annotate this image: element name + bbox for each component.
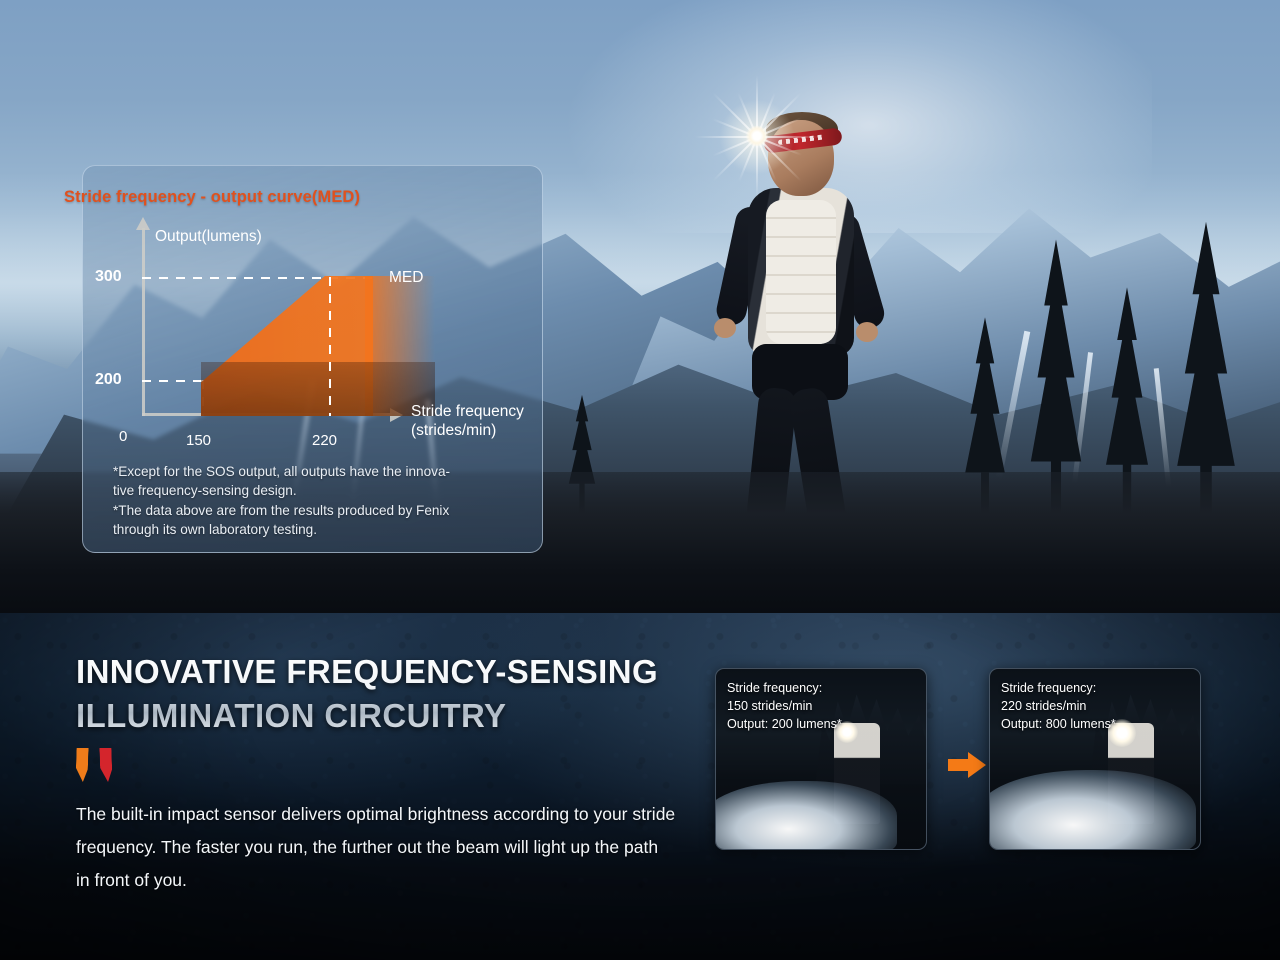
- product-feature-page: Output(lumens) Stride frequency (strides…: [0, 0, 1280, 960]
- card-caption: Stride frequency: 220 strides/min Output…: [1001, 679, 1116, 733]
- card-beam-snow: [989, 770, 1196, 850]
- series-label-med: MED: [389, 269, 423, 287]
- chevron-down-accent-icon: [76, 748, 126, 784]
- x-tick-220: 220: [312, 432, 337, 449]
- x-axis-label: Stride frequency (strides/min): [411, 402, 524, 440]
- gridline-220-top: [329, 277, 331, 416]
- chart-footnote: *Except for the SOS output, all outputs …: [113, 462, 525, 539]
- runner-hand: [856, 322, 878, 342]
- x-tick-0: 0: [119, 428, 127, 445]
- card-beam-snow: [715, 781, 897, 850]
- page-title: INNOVATIVE FREQUENCY-SENSING ILLUMINATIO…: [76, 650, 696, 737]
- output-curve-mountain-overlay: [201, 362, 435, 416]
- y-axis-arrowhead-icon: [136, 217, 150, 230]
- comparison-card-220[interactable]: Stride frequency: 220 strides/min Output…: [989, 668, 1201, 850]
- card-caption: Stride frequency: 150 strides/min Output…: [727, 679, 842, 733]
- runner-hand: [714, 318, 736, 338]
- x-tick-150: 150: [186, 432, 211, 449]
- feature-description-text: The built-in impact sensor delivers opti…: [76, 798, 676, 897]
- headlamp-icon: [746, 126, 768, 146]
- chart-title: Stride frequency - output curve(MED): [64, 188, 360, 207]
- gridline-200: [142, 380, 204, 382]
- y-tick-300: 300: [95, 268, 122, 286]
- y-axis-label: Output(lumens): [155, 228, 262, 246]
- runner-vest: [766, 200, 836, 344]
- comparison-card-150[interactable]: Stride frequency: 150 strides/min Output…: [715, 668, 927, 850]
- stride-output-chart-panel: Output(lumens) Stride frequency (strides…: [82, 165, 543, 553]
- arrow-right-icon: [948, 752, 986, 778]
- y-tick-200: 200: [95, 371, 122, 389]
- y-axis-line: [142, 228, 145, 416]
